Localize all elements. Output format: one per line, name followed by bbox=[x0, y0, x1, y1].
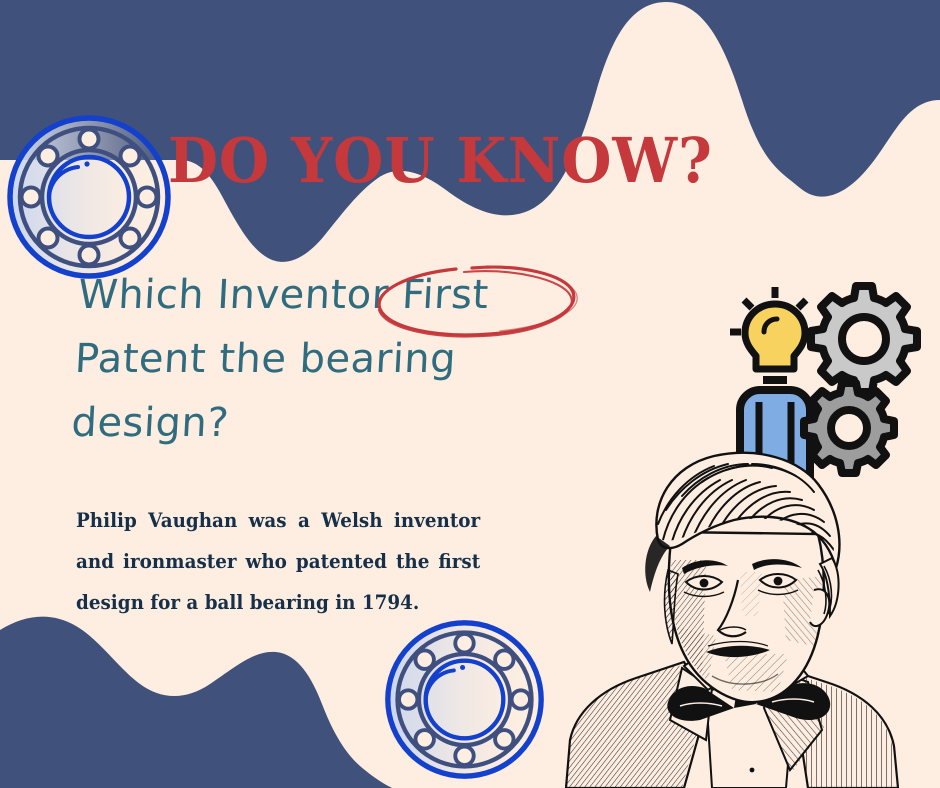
ball-bearing-icon bbox=[382, 617, 547, 782]
poster-canvas: DO YOU KNOW? Which Inventor First Patent… bbox=[0, 0, 940, 788]
bearing-motion-dot bbox=[460, 665, 465, 670]
bearing-motion-dot bbox=[84, 161, 89, 166]
portrait-ink-drawing bbox=[556, 453, 940, 788]
inventor-portrait-engraving bbox=[556, 440, 940, 788]
bulb-base bbox=[763, 376, 787, 384]
body-paragraph: Philip Vaughan was a Welsh inventor and … bbox=[76, 500, 480, 623]
gear-large-icon bbox=[811, 286, 917, 392]
lightbulb-icon bbox=[745, 304, 805, 384]
ball-bearing-icon bbox=[4, 112, 174, 282]
page-title: DO YOU KNOW? bbox=[168, 130, 763, 192]
red-hand-drawn-ellipse-annotation bbox=[368, 262, 583, 340]
question-line-3: design? bbox=[70, 391, 593, 455]
